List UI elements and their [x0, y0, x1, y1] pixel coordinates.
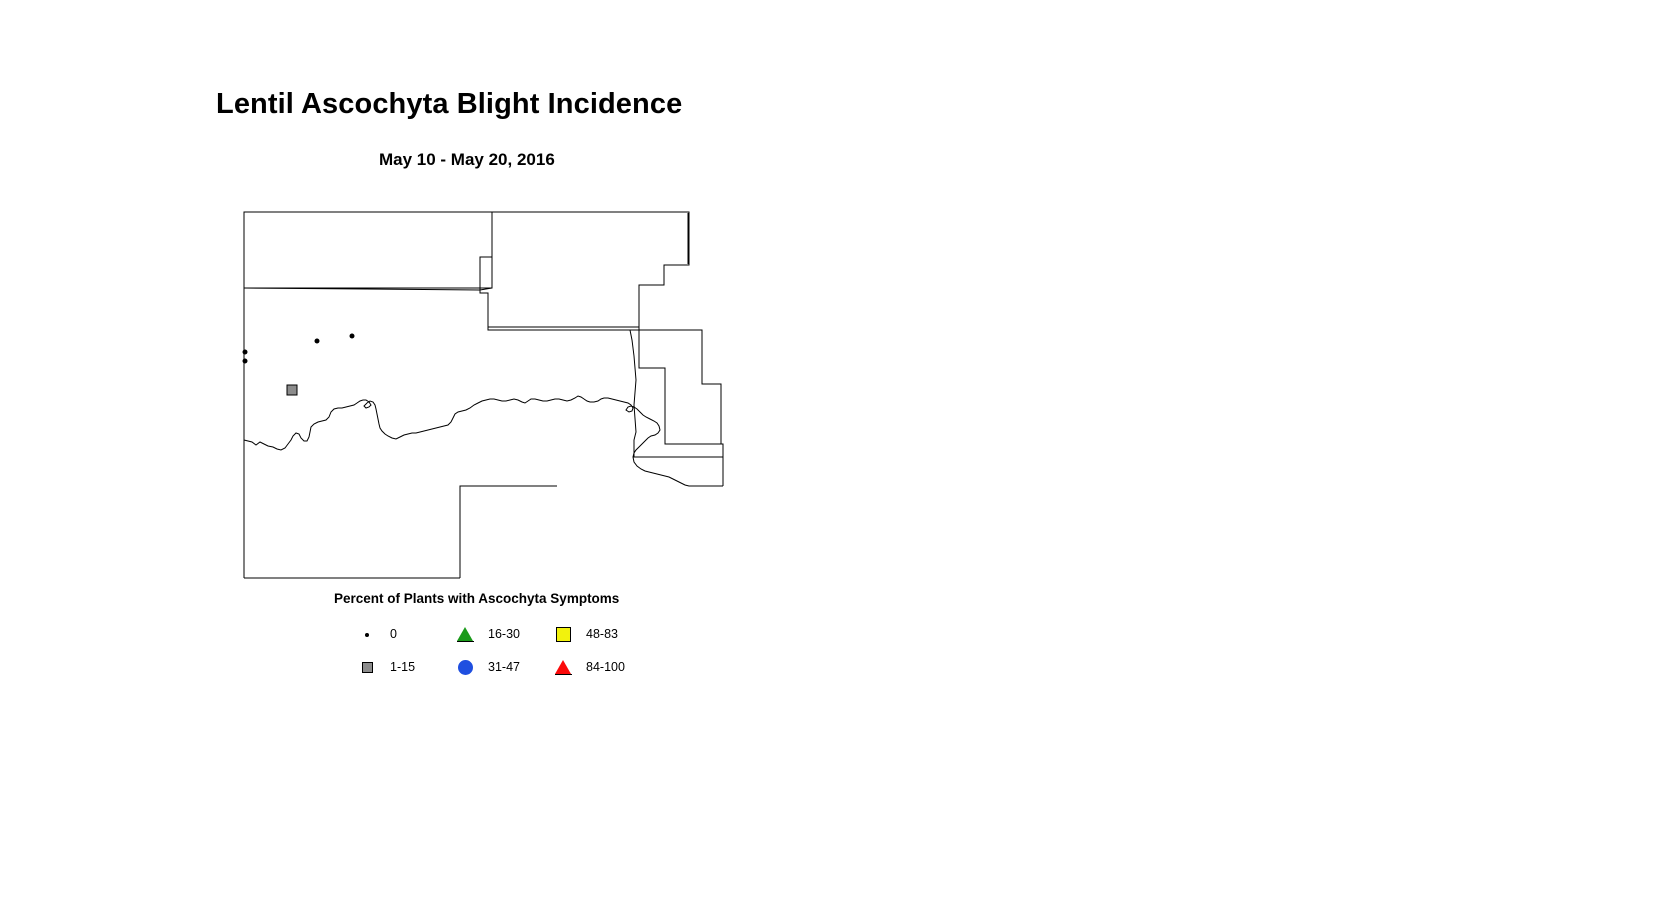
legend-item-16-30[interactable]: 16-30 [452, 618, 550, 651]
region-east-block [488, 330, 723, 486]
region-northwest [244, 212, 492, 288]
legend-item-0[interactable]: 0 [354, 618, 452, 651]
yellow-square-icon [550, 624, 576, 646]
legend: Percent of Plants with Ascochyta Symptom… [334, 592, 754, 682]
legend-item-label: 0 [380, 628, 397, 641]
legend-title: Percent of Plants with Ascochyta Symptom… [334, 592, 619, 606]
legend-item-31-47[interactable]: 31-47 [452, 651, 550, 684]
region-east-central [488, 327, 723, 457]
page-title: Lentil Ascochyta Blight Incidence [216, 90, 682, 119]
legend-items-grid: 0 16-30 48-83 [354, 618, 754, 684]
legend-item-label: 1-15 [380, 661, 415, 674]
map-outline-graphic [230, 200, 750, 600]
boundary-southeast-edge [639, 212, 689, 327]
region-northeast [480, 212, 689, 327]
map-panel [230, 200, 750, 600]
legend-row: 1-15 31-47 84-100 [354, 651, 754, 684]
map-marker-point[interactable] [350, 334, 355, 339]
boundary-river [244, 396, 723, 486]
legend-row: 0 16-30 48-83 [354, 618, 754, 651]
legend-item-48-83[interactable]: 48-83 [550, 618, 660, 651]
map-marker-point[interactable] [243, 359, 248, 364]
gray-square-icon [354, 657, 380, 679]
legend-item-84-100[interactable]: 84-100 [550, 651, 660, 684]
small-black-dot-icon [354, 624, 380, 646]
blue-circle-icon [452, 657, 478, 679]
red-triangle-icon [550, 657, 576, 679]
date-range-subtitle: May 10 - May 20, 2016 [379, 151, 555, 168]
figure-canvas: Lentil Ascochyta Blight Incidence May 10… [0, 0, 1673, 900]
map-marker-point[interactable] [243, 350, 248, 355]
legend-item-label: 16-30 [478, 628, 520, 641]
legend-item-label: 84-100 [576, 661, 625, 674]
legend-item-label: 31-47 [478, 661, 520, 674]
boundary-south-step [460, 486, 557, 578]
map-marker-point[interactable] [315, 339, 320, 344]
legend-item-1-15[interactable]: 1-15 [354, 651, 452, 684]
map-marker-point[interactable] [287, 385, 298, 396]
map-region-boundaries [244, 212, 723, 578]
green-triangle-icon [452, 624, 478, 646]
legend-item-label: 48-83 [576, 628, 618, 641]
